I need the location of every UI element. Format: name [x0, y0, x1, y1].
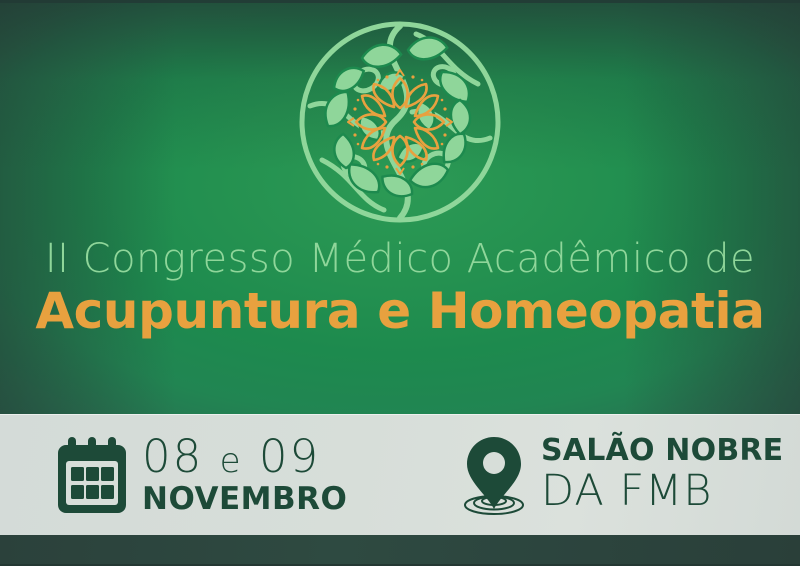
event-day-second: 09	[259, 430, 320, 483]
footer-strip	[0, 535, 800, 566]
venue-line-1: SALÃO NOBRE	[541, 436, 783, 466]
calendar-icon	[56, 435, 128, 515]
info-bar: 08 e 09 NOVEMBRO	[0, 414, 800, 535]
logo	[0, 14, 800, 230]
date-group: 08 e 09 NOVEMBRO	[0, 434, 395, 515]
map-pin-icon	[461, 433, 527, 517]
event-month: NOVEMBRO	[142, 484, 347, 515]
venue-text: SALÃO NOBRE DA FMB	[541, 436, 783, 513]
event-poster: II Congresso Médico Acadêmico de Acupunt…	[0, 0, 800, 566]
vine-wreath-lotus-logo	[292, 14, 508, 230]
poster-title-block: II Congresso Médico Acadêmico de Acupunt…	[0, 238, 800, 339]
date-text: 08 e 09 NOVEMBRO	[142, 434, 347, 515]
event-days: 08 e 09	[142, 434, 347, 479]
info-bar-top-highlight	[0, 414, 800, 415]
event-day-separator: e	[220, 441, 243, 481]
venue-line-2: DA FMB	[541, 470, 783, 513]
top-edge-line	[0, 0, 800, 3]
event-day-first: 08	[142, 430, 203, 483]
venue-group: SALÃO NOBRE DA FMB	[395, 433, 800, 517]
title-line-subtitle: II Congresso Médico Acadêmico de	[0, 238, 800, 281]
title-line-main: Acupuntura e Homeopatia	[0, 283, 800, 339]
